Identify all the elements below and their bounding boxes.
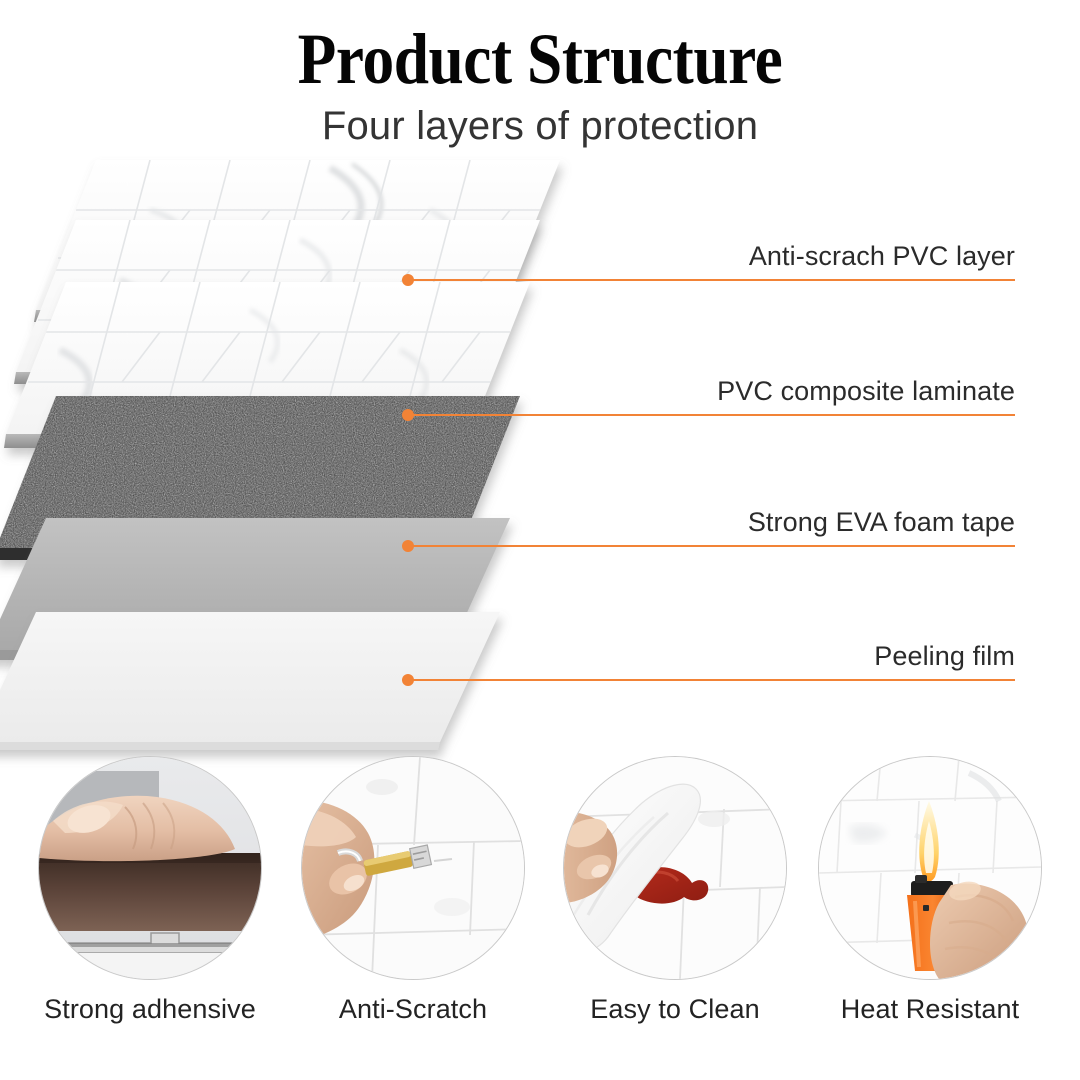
feature-strong-adhesive: Strong adhensive	[15, 752, 285, 1025]
feature-caption: Strong adhensive	[15, 994, 285, 1025]
callout-label: Peeling film	[874, 641, 1015, 672]
feature-caption: Heat Resistant	[795, 994, 1065, 1025]
product-structure-infographic: Product Structure Four layers of protect…	[0, 0, 1080, 1080]
lighter-flame-on-tile-photo	[818, 756, 1042, 980]
feature-heat-resistant: Heat Resistant	[795, 752, 1065, 1025]
feature-row: Strong adhensive	[0, 752, 1080, 1080]
callout-line	[408, 279, 1015, 281]
keys-scratching-tile-photo	[301, 756, 525, 980]
callout-label: PVC composite laminate	[717, 376, 1015, 407]
feature-easy-to-clean: Easy to Clean	[540, 752, 810, 1025]
wiping-ketchup-stain-photo	[563, 756, 787, 980]
callout-line	[408, 414, 1015, 416]
callout-dot	[402, 409, 414, 421]
callout-group: Anti-scrach PVC layer PVC composite lami…	[0, 0, 1080, 760]
feature-caption: Easy to Clean	[540, 994, 810, 1025]
feature-anti-scratch: Anti-Scratch	[278, 752, 548, 1025]
callout-dot	[402, 674, 414, 686]
callout-dot	[402, 274, 414, 286]
feature-caption: Anti-Scratch	[278, 994, 548, 1025]
callout-line	[408, 545, 1015, 547]
callout-label: Anti-scrach PVC layer	[749, 241, 1015, 272]
hand-pressing-tile-photo	[38, 756, 262, 980]
callout-line	[408, 679, 1015, 681]
callout-dot	[402, 540, 414, 552]
callout-label: Strong EVA foam tape	[748, 507, 1015, 538]
